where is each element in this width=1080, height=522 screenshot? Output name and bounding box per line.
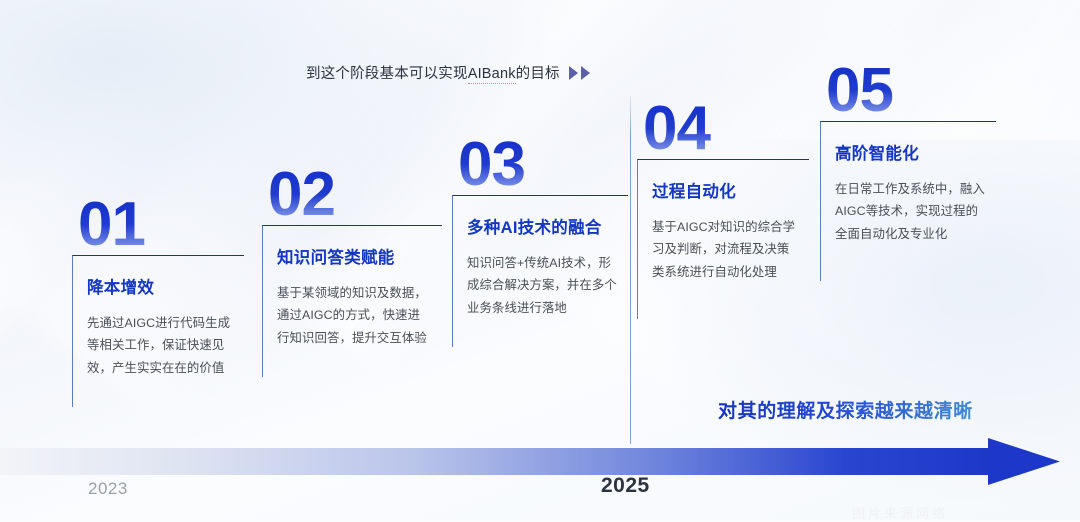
stage-title: 高阶智能化 <box>835 140 986 164</box>
stage-card: 知识问答类赋能 基于某领域的知识及数据，通过AIGC的方式，快速进行知识回答，提… <box>262 225 442 377</box>
stage-card: 降本增效 先通过AIGC进行代码生成等相关工作，保证快速见效，产生实实在在的价值 <box>72 255 244 407</box>
stage-body: 知识问答+传统AI技术，形成综合解决方案，并在多个业务条线进行落地 <box>467 252 618 320</box>
stage-item-04[interactable]: 04 过程自动化 基于AIGC对知识的综合学习及判断，对流程及决策类系统进行自动… <box>637 100 809 319</box>
stage-item-05[interactable]: 05 高阶智能化 在日常工作及系统中，融入AIGC等技术，实现过程的全面自动化及… <box>820 62 996 281</box>
stage-card: 过程自动化 基于AIGC对知识的综合学习及判断，对流程及决策类系统进行自动化处理 <box>637 159 809 319</box>
timeline-tagline: 对其的理解及探索越来越清晰 <box>718 396 973 423</box>
stage-number: 03 <box>458 136 628 195</box>
stage-item-03[interactable]: 03 多种AI技术的融合 知识问答+传统AI技术，形成综合解决方案，并在多个业务… <box>452 136 628 347</box>
stage-number: 01 <box>78 196 244 255</box>
milestone-caption: 到这个阶段基本可以实现AIBank的目标 <box>306 62 590 83</box>
caption-suffix: 的目标 <box>516 66 560 82</box>
stage-item-01[interactable]: 01 降本增效 先通过AIGC进行代码生成等相关工作，保证快速见效，产生实实在在… <box>72 196 244 407</box>
stage-card: 高阶智能化 在日常工作及系统中，融入AIGC等技术，实现过程的全面自动化及专业化 <box>820 121 996 281</box>
stage-number: 02 <box>268 166 442 225</box>
stage-title: 多种AI技术的融合 <box>467 214 618 238</box>
right-arrow-icon <box>0 436 1080 488</box>
stage-title: 过程自动化 <box>652 178 799 202</box>
source-watermark: 图片来源网络 <box>852 503 948 522</box>
double-chevron-right-icon <box>569 66 590 80</box>
stage-body: 基于AIGC对知识的综合学习及判断，对流程及决策类系统进行自动化处理 <box>652 216 799 284</box>
stage-title: 降本增效 <box>87 274 234 298</box>
stage-item-02[interactable]: 02 知识问答类赋能 基于某领域的知识及数据，通过AIGC的方式，快速进行知识回… <box>262 166 442 377</box>
stage-number: 05 <box>826 62 996 121</box>
stage-title: 知识问答类赋能 <box>277 244 432 268</box>
milestone-caption-text: 到这个阶段基本可以实现AIBank的目标 <box>306 62 560 83</box>
stage-body: 先通过AIGC进行代码生成等相关工作，保证快速见效，产生实实在在的价值 <box>87 312 234 380</box>
stage-body: 在日常工作及系统中，融入AIGC等技术，实现过程的全面自动化及专业化 <box>835 178 986 246</box>
caption-highlight: AIBank <box>468 66 516 84</box>
timeline-year-start: 2023 <box>88 479 128 499</box>
year-divider-line <box>630 96 631 444</box>
caption-prefix: 到这个阶段基本可以实现 <box>306 66 468 82</box>
stage-number: 04 <box>643 100 809 159</box>
timeline-year-end: 2025 <box>601 474 650 498</box>
stage-body: 基于某领域的知识及数据，通过AIGC的方式，快速进行知识回答，提升交互体验 <box>277 282 432 350</box>
stage-card: 多种AI技术的融合 知识问答+传统AI技术，形成综合解决方案，并在多个业务条线进… <box>452 195 628 347</box>
